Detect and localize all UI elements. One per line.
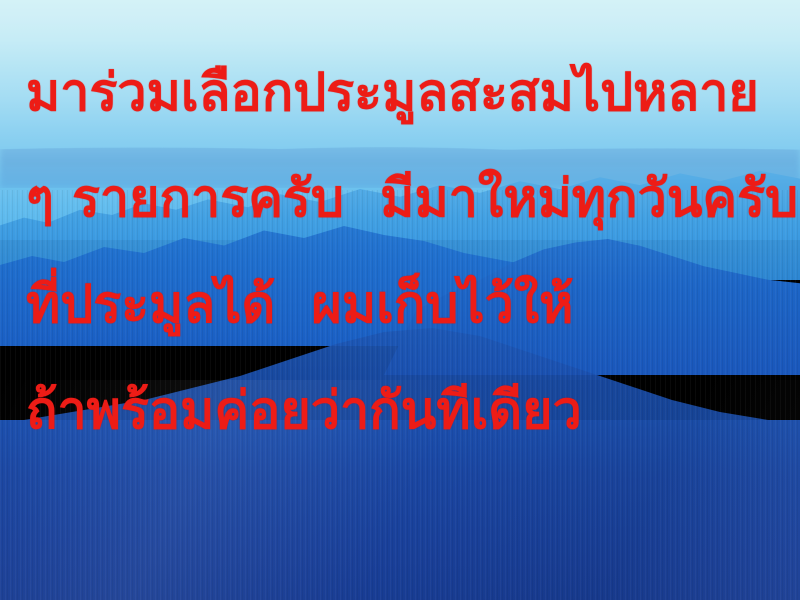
caption-line-1: มาร่วมเลือกประมูลสะสมไปหลาย: [26, 40, 790, 146]
caption-overlay: มาร่วมเลือกประมูลสะสมไปหลาย ๆ รายการครับ…: [0, 0, 800, 600]
caption-line-2: ๆ รายการครับ มีมาใหม่ทุกวันครับ: [26, 146, 790, 252]
caption-line-3: ที่ประมูลได้ ผมเก็บไว้ให้: [26, 252, 790, 358]
banner-image: มาร่วมเลือกประมูลสะสมไปหลาย ๆ รายการครับ…: [0, 0, 800, 600]
caption-line-4: ถ้าพร้อมค่อยว่ากันทีเดียว: [26, 358, 790, 464]
